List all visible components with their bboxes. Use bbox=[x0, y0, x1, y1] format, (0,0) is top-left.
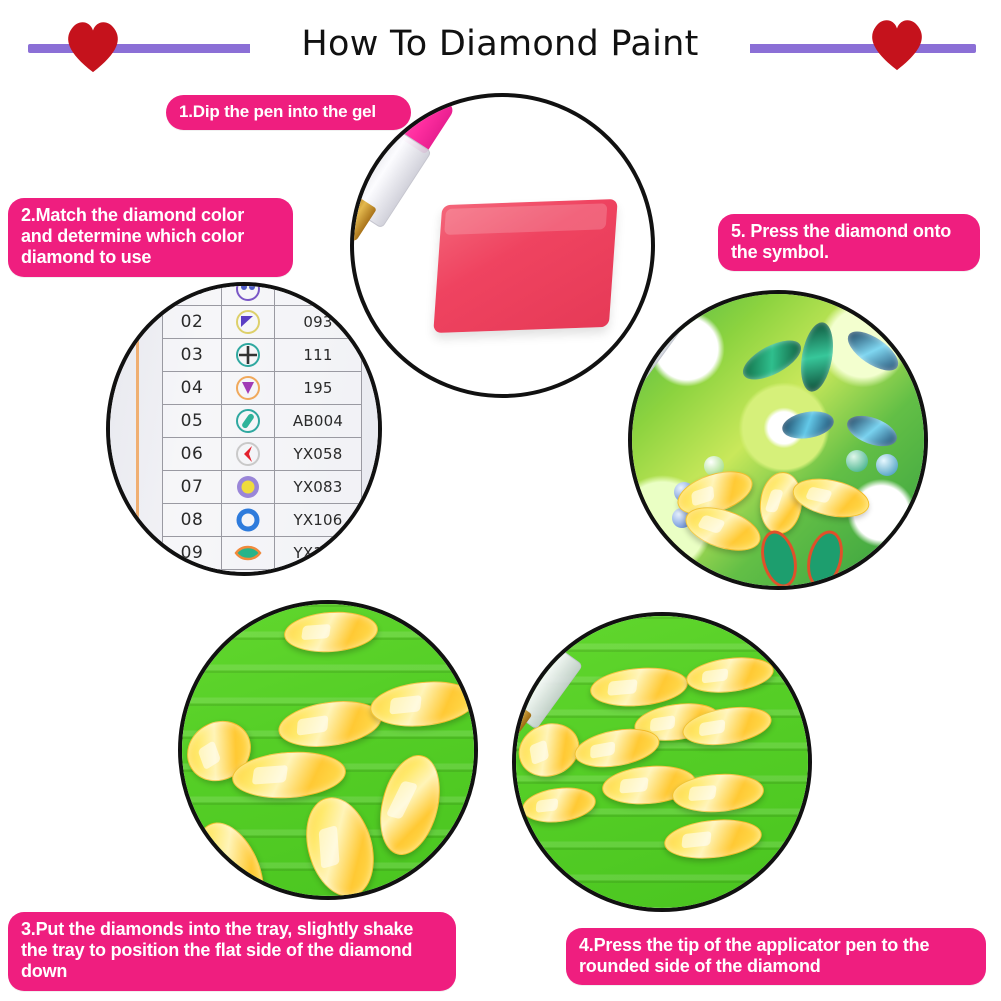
cell-no: 02 bbox=[163, 306, 222, 339]
filled-triangle-icon bbox=[222, 307, 274, 337]
gel-pad bbox=[433, 199, 618, 333]
ring-icon bbox=[222, 505, 274, 535]
double-dot-icon bbox=[222, 282, 274, 304]
color-symbol-table: 01 020 02 bbox=[162, 282, 362, 576]
cell-symbol bbox=[222, 471, 275, 504]
heart-icon-left bbox=[62, 16, 124, 74]
circle-color-chart: 01 020 02 bbox=[106, 282, 382, 576]
cell-symbol bbox=[222, 537, 275, 570]
chart-margin-line-left bbox=[136, 286, 139, 572]
cell-code: YX058 bbox=[275, 438, 362, 471]
table-row: 02 093 bbox=[163, 306, 362, 339]
cell-symbol bbox=[222, 339, 275, 372]
cell-no: 09 bbox=[163, 537, 222, 570]
slash-capsule-icon bbox=[222, 406, 274, 436]
cell-code: AB004 bbox=[275, 405, 362, 438]
cell-no: 06 bbox=[163, 438, 222, 471]
cell-symbol bbox=[222, 282, 275, 306]
gem bbox=[876, 454, 898, 476]
table-row: 04 195 bbox=[163, 372, 362, 405]
cell-symbol bbox=[222, 306, 275, 339]
cell-no: 07 bbox=[163, 471, 222, 504]
cell-code: 195 bbox=[275, 372, 362, 405]
cell-no: 04 bbox=[163, 372, 222, 405]
table-row: 06 YX058 bbox=[163, 438, 362, 471]
table-row: 05 AB004 bbox=[163, 405, 362, 438]
cell-no: 05 bbox=[163, 405, 222, 438]
step-label-4: 4.Press the tip of the applicator pen to… bbox=[566, 928, 986, 985]
table-row: 10 bbox=[163, 570, 362, 577]
step-label-2: 2.Match the diamond color and determine … bbox=[8, 198, 293, 277]
step-label-5: 5. Press the diamond onto the symbol. bbox=[718, 214, 980, 271]
cell-code: YX083 bbox=[275, 471, 362, 504]
table-row: 08 YX106 bbox=[163, 504, 362, 537]
filled-circle-icon bbox=[222, 472, 274, 502]
leaf-icon bbox=[222, 571, 274, 576]
gem bbox=[846, 450, 868, 472]
circle-place-on-canvas bbox=[628, 290, 928, 590]
cell-code bbox=[275, 570, 362, 577]
table-row: 07 YX083 bbox=[163, 471, 362, 504]
cell-code: 020 bbox=[275, 282, 362, 306]
circle-pen-picks-diamond bbox=[512, 612, 812, 912]
cell-symbol bbox=[222, 405, 275, 438]
left-arrow-icon bbox=[222, 439, 274, 469]
cell-code: YX106 bbox=[275, 504, 362, 537]
circle-pen-in-gel bbox=[350, 93, 655, 398]
page-title: How To Diamond Paint bbox=[250, 18, 750, 70]
step-label-3: 3.Put the diamonds into the tray, slight… bbox=[8, 912, 456, 991]
leaf-icon bbox=[222, 538, 274, 568]
circle-diamonds-in-tray bbox=[178, 600, 478, 900]
table-row: 03 111 bbox=[163, 339, 362, 372]
cell-symbol bbox=[222, 570, 275, 577]
filled-triangle-icon bbox=[222, 373, 274, 403]
cell-symbol bbox=[222, 438, 275, 471]
heart-icon-right bbox=[866, 14, 928, 72]
table-row: 01 020 bbox=[163, 282, 362, 306]
cell-no: 01 bbox=[163, 282, 222, 306]
cell-code: YX125 bbox=[275, 537, 362, 570]
cell-no: 10 bbox=[163, 570, 222, 577]
cell-symbol bbox=[222, 372, 275, 405]
cell-no: 08 bbox=[163, 504, 222, 537]
cell-code: 093 bbox=[275, 306, 362, 339]
table-row: 09 YX125 bbox=[163, 537, 362, 570]
how-to-diamond-paint-infographic: How To Diamond Paint 1.Dip the pen into … bbox=[0, 0, 1001, 1001]
cell-code: 111 bbox=[275, 339, 362, 372]
cell-no: 03 bbox=[163, 339, 222, 372]
plus-icon bbox=[222, 340, 274, 370]
cell-symbol bbox=[222, 504, 275, 537]
